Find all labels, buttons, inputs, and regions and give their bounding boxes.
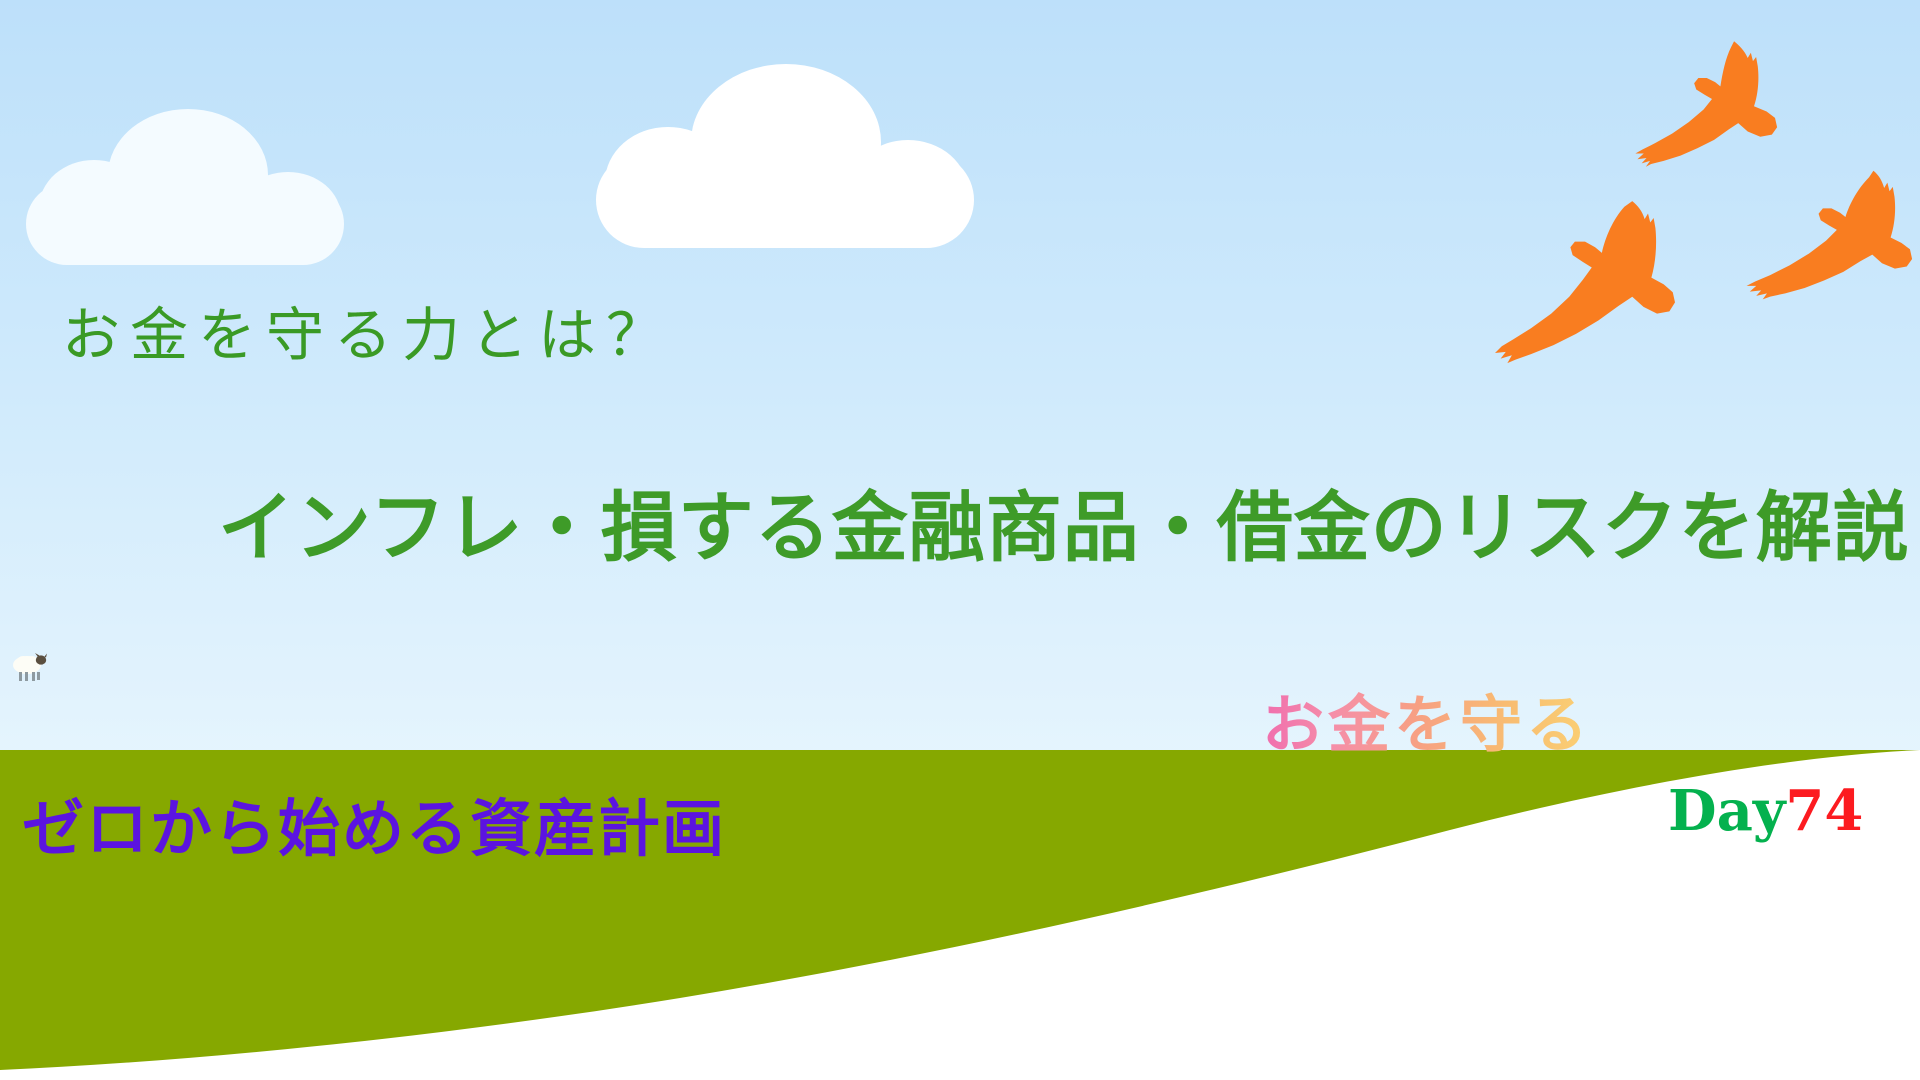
banner-canvas: お金を守る力とは？ インフレ・損する金融商品・借金のリスクを解説 お金を守る ゼ… <box>0 0 1920 1080</box>
sheep-shape <box>8 648 52 684</box>
cloud-right-shape <box>590 60 980 260</box>
sheep-icon <box>8 648 52 684</box>
bird-bottom-shape <box>1495 190 1720 390</box>
day-word: Day <box>1668 778 1785 844</box>
bird-right-shape <box>1710 165 1920 340</box>
bird-icon-bottom <box>1495 190 1720 395</box>
headline: インフレ・損する金融商品・借金のリスクを解説 <box>218 466 1910 576</box>
cloud-icon-right <box>590 60 980 260</box>
protect-money-tag: お金を守る <box>1262 674 1592 764</box>
brand-series-title: ゼロから始める資産計画 <box>22 778 726 868</box>
cloud-icon-left <box>20 105 350 275</box>
cloud-left-shape <box>20 105 350 275</box>
bird-icon-right <box>1710 165 1920 345</box>
day-badge: Day74 <box>1668 778 1863 844</box>
subheadline: お金を守る力とは？ <box>62 288 674 372</box>
day-number: 74 <box>1785 778 1863 844</box>
